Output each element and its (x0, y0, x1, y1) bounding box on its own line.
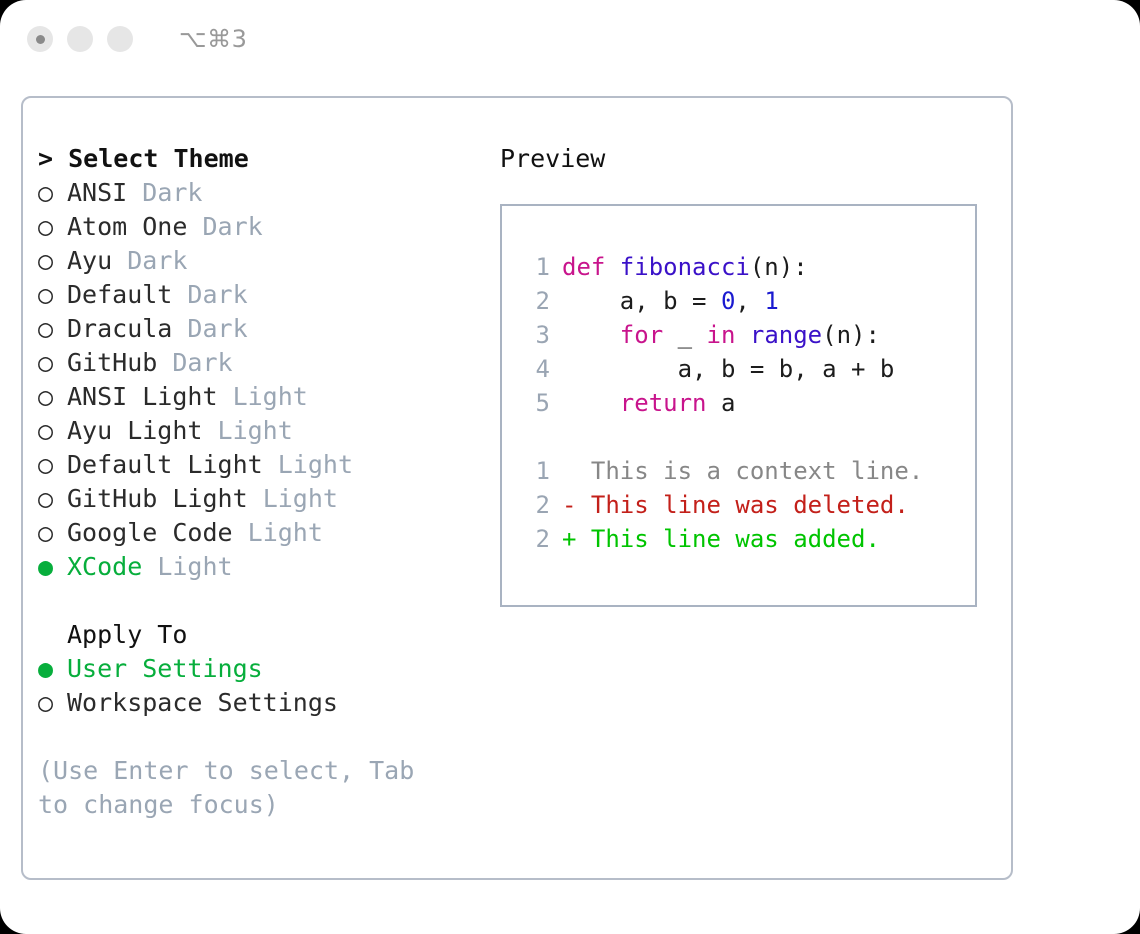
window-dot-icon-3[interactable] (107, 26, 133, 52)
theme-option-variant: Light (248, 518, 323, 547)
app-window: ⌥⌘3 > Select Theme ○ANSI Dark○Atom One D… (0, 0, 1140, 934)
apply-to-list: ●User Settings○Workspace Settings (38, 652, 498, 720)
theme-option-name: GitHub Light (67, 484, 248, 513)
code-line-number: 4 (522, 352, 550, 386)
apply-to-option-user-settings[interactable]: ●User Settings (38, 652, 498, 686)
code-token-kw: in (707, 321, 736, 349)
diff-line-del: 2- This line was deleted. (502, 488, 975, 522)
diff-text: This line was added. (591, 525, 880, 553)
theme-option-variant: Dark (202, 212, 262, 241)
radio-unselected-icon: ○ (38, 346, 67, 380)
diff-text: This is a context line. (591, 457, 923, 485)
radio-unselected-icon: ○ (38, 414, 67, 448)
diff-marker: - (562, 491, 591, 519)
theme-option-variant: Light (157, 552, 232, 581)
code-token-kw: return (620, 389, 707, 417)
code-line: 1def fibonacci(n): (502, 250, 975, 284)
code-line-number: 2 (522, 284, 550, 318)
diff-line-number: 2 (522, 488, 550, 522)
code-token-pln (562, 389, 620, 417)
theme-option-variant: Dark (172, 348, 232, 377)
theme-option-name: XCode (67, 552, 142, 581)
code-token-fn: fibonacci (620, 253, 750, 281)
theme-option-xcode[interactable]: ●XCode Light (38, 550, 498, 584)
theme-option-ansi[interactable]: ○ANSI Dark (38, 176, 498, 210)
preview-column: Preview 1def fibonacci(n):2 a, b = 0, 13… (500, 142, 1000, 607)
theme-option-variant: Dark (187, 280, 247, 309)
theme-option-name: Default Light (67, 450, 263, 479)
code-token-pln: a (707, 389, 736, 417)
theme-option-variant: Light (278, 450, 353, 479)
radio-unselected-icon: ○ (38, 380, 67, 414)
radio-unselected-icon: ○ (38, 686, 67, 720)
diff-line-number: 2 (522, 522, 550, 556)
theme-selection-column: > Select Theme ○ANSI Dark○Atom One Dark○… (38, 142, 498, 822)
code-token-pln: _ (663, 321, 706, 349)
theme-option-name: Ayu (67, 246, 112, 275)
theme-option-name: GitHub (67, 348, 157, 377)
radio-unselected-icon: ○ (38, 176, 67, 210)
theme-option-variant: Dark (127, 246, 187, 275)
preview-heading: Preview (500, 142, 1000, 176)
code-token-pln: a, b = (562, 287, 721, 315)
radio-unselected-icon: ○ (38, 210, 67, 244)
diff-marker (562, 457, 591, 485)
window-dot-icon-2[interactable] (67, 26, 93, 52)
code-token-pln: , (735, 287, 764, 315)
theme-option-github-light[interactable]: ○GitHub Light Light (38, 482, 498, 516)
theme-option-variant: Light (263, 484, 338, 513)
theme-option-variant: Light (233, 382, 308, 411)
code-line: 4 a, b = b, a + b (502, 352, 975, 386)
theme-option-variant: Light (218, 416, 293, 445)
theme-option-github[interactable]: ○GitHub Dark (38, 346, 498, 380)
radio-selected-icon: ● (38, 652, 67, 686)
theme-option-name: Ayu Light (67, 416, 202, 445)
window-dot-active-icon[interactable] (27, 26, 53, 52)
code-token-pln: (n): (750, 253, 808, 281)
selection-caret-icon: > (38, 144, 53, 173)
code-line-number: 1 (522, 250, 550, 284)
apply-to-option-name: User Settings (67, 654, 263, 683)
theme-option-ansi-light[interactable]: ○ANSI Light Light (38, 380, 498, 414)
theme-option-ayu-light[interactable]: ○Ayu Light Light (38, 414, 498, 448)
radio-selected-icon: ● (38, 550, 67, 584)
radio-unselected-icon: ○ (38, 312, 67, 346)
code-token-num: 1 (764, 287, 778, 315)
diff-line-add: 2+ This line was added. (502, 522, 975, 556)
code-token-pln: (n): (822, 321, 880, 349)
diff-text: This line was deleted. (591, 491, 909, 519)
select-theme-heading-label: Select Theme (68, 144, 249, 173)
keyboard-hint-text: (Use Enter to select, Tab to change focu… (38, 754, 458, 822)
code-token-num: 0 (721, 287, 735, 315)
code-token-fn: range (750, 321, 822, 349)
apply-to-heading: Apply To (38, 618, 498, 652)
section-spacer (38, 584, 498, 618)
radio-unselected-icon: ○ (38, 482, 67, 516)
code-diff-spacer (502, 420, 975, 454)
window-titlebar: ⌥⌘3 (0, 0, 1140, 78)
preview-box: 1def fibonacci(n):2 a, b = 0, 13 for _ i… (500, 204, 977, 607)
diff-line-number: 1 (522, 454, 550, 488)
code-token-pln (562, 321, 620, 349)
theme-list: ○ANSI Dark○Atom One Dark○Ayu Dark○Defaul… (38, 176, 498, 584)
theme-option-variant: Dark (142, 178, 202, 207)
theme-option-name: ANSI Light (67, 382, 218, 411)
theme-option-name: ANSI (67, 178, 127, 207)
theme-option-dracula[interactable]: ○Dracula Dark (38, 312, 498, 346)
code-line-number: 3 (522, 318, 550, 352)
diff-marker: + (562, 525, 591, 553)
radio-unselected-icon: ○ (38, 244, 67, 278)
code-preview: 1def fibonacci(n):2 a, b = 0, 13 for _ i… (502, 250, 975, 420)
radio-unselected-icon: ○ (38, 516, 67, 550)
radio-unselected-icon: ○ (38, 448, 67, 482)
code-token-pln (735, 321, 749, 349)
select-theme-heading: > Select Theme (38, 142, 498, 176)
theme-picker-panel: > Select Theme ○ANSI Dark○Atom One Dark○… (21, 96, 1013, 880)
theme-option-default-light[interactable]: ○Default Light Light (38, 448, 498, 482)
apply-to-option-workspace-settings[interactable]: ○Workspace Settings (38, 686, 498, 720)
code-line-number: 5 (522, 386, 550, 420)
diff-line-ctx: 1 This is a context line. (502, 454, 975, 488)
theme-option-google-code[interactable]: ○Google Code Light (38, 516, 498, 550)
theme-option-name: Google Code (67, 518, 233, 547)
code-token-pln: a, b = b, a + b (562, 355, 894, 383)
theme-option-name: Default (67, 280, 172, 309)
theme-option-atom-one[interactable]: ○Atom One Dark (38, 210, 498, 244)
code-line: 2 a, b = 0, 1 (502, 284, 975, 318)
code-token-kw: for (620, 321, 663, 349)
code-line: 3 for _ in range(n): (502, 318, 975, 352)
radio-unselected-icon: ○ (38, 278, 67, 312)
theme-option-name: Atom One (67, 212, 187, 241)
apply-to-option-name: Workspace Settings (67, 688, 338, 717)
code-line: 5 return a (502, 386, 975, 420)
theme-option-variant: Dark (187, 314, 247, 343)
diff-preview: 1 This is a context line.2- This line wa… (502, 454, 975, 556)
keyboard-shortcut-label: ⌥⌘3 (179, 25, 247, 53)
theme-option-ayu[interactable]: ○Ayu Dark (38, 244, 498, 278)
code-token-kw: def (562, 253, 620, 281)
theme-option-name: Dracula (67, 314, 172, 343)
theme-option-default[interactable]: ○Default Dark (38, 278, 498, 312)
